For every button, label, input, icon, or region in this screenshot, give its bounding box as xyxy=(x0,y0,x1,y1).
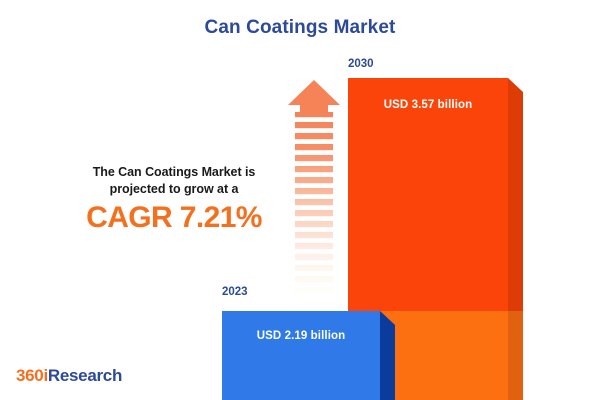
bar-label-2023: 2023 xyxy=(222,286,248,298)
bar-2023: USD 2.19 billion xyxy=(222,311,395,400)
bar-2023-value-label: USD 2.19 billion xyxy=(222,330,380,342)
infographic-canvas: Can Coatings Market The Can Coatings Mar… xyxy=(0,0,600,400)
page-title: Can Coatings Market xyxy=(0,17,600,39)
cagr-lead-line-1: The Can Coatings Market is xyxy=(58,164,290,181)
bar-2023-front-face xyxy=(222,311,380,400)
brand-logo-part-b: Research xyxy=(48,366,122,385)
brand-logo: 360iResearch xyxy=(16,366,122,386)
growth-arrow-svg xyxy=(286,78,342,302)
growth-arrow-icon xyxy=(286,78,342,302)
bar-2023-side-face xyxy=(380,311,395,400)
arrow-head xyxy=(288,80,340,112)
bar-label-2030: 2030 xyxy=(348,58,374,70)
cagr-callout: The Can Coatings Market is projected to … xyxy=(58,164,290,235)
bar-2030-side-face-lower xyxy=(508,311,523,400)
cagr-value: CAGR 7.21% xyxy=(58,202,290,234)
cagr-lead-text: The Can Coatings Market is projected to … xyxy=(58,164,290,197)
cagr-lead-line-2: projected to grow at a xyxy=(58,181,290,198)
bar-2030-value-label: USD 3.57 billion xyxy=(348,99,508,111)
arrow-shaft-stripes xyxy=(295,112,333,302)
brand-logo-part-a: 360i xyxy=(16,366,48,385)
